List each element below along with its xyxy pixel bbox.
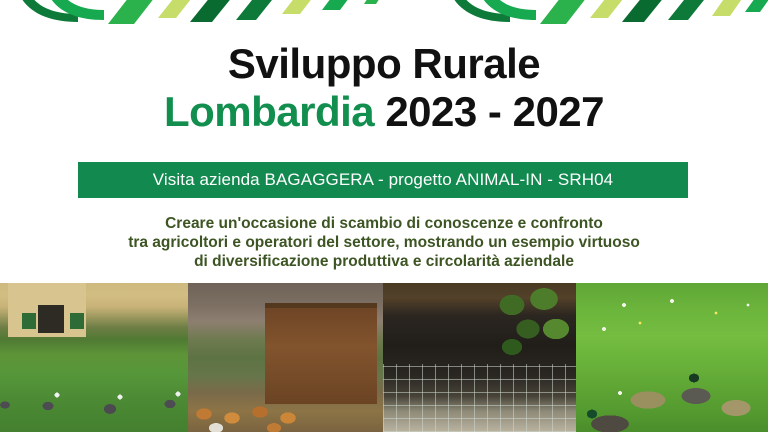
page-title: Sviluppo Rurale Lombardia 2023 - 2027 — [0, 40, 768, 136]
photo-chickens-mobile-coop: Galline ovaiole attorno al pollaio mobil… — [188, 283, 383, 432]
photo-guinea-fowl-pasture: Faraone al pascolo davanti al cascinale — [0, 283, 188, 432]
presentation-slide: Sviluppo Rurale Lombardia 2023 - 2027 Vi… — [0, 0, 768, 432]
photo-strip: Faraone al pascolo davanti al cascinale … — [0, 283, 768, 432]
visit-banner-label: Visita azienda BAGAGGERA - progetto ANIM… — [153, 170, 613, 190]
subtitle-line-3: di diversificazione produttiva e circola… — [50, 252, 718, 271]
title-line-region-years: Lombardia 2023 - 2027 — [0, 88, 768, 136]
photo-ducks-meadow: Anatre nel prato verde fiorito — [576, 283, 768, 432]
subtitle-line-2: tra agricoltori e operatori del settore,… — [50, 233, 718, 252]
subtitle-paragraph: Creare un'occasione di scambio di conosc… — [50, 214, 718, 271]
title-region: Lombardia — [164, 88, 374, 135]
title-years: 2023 - 2027 — [374, 88, 604, 135]
visit-banner: Visita azienda BAGAGGERA - progetto ANIM… — [78, 162, 688, 198]
title-line-programme: Sviluppo Rurale — [0, 40, 768, 88]
regione-lombardia-logo-stripes — [0, 0, 768, 26]
subtitle-line-1: Creare un'occasione di scambio di conosc… — [50, 214, 718, 233]
photo-poultry-pen-barn: Recinto con rete e animali davanti alla … — [383, 283, 576, 432]
